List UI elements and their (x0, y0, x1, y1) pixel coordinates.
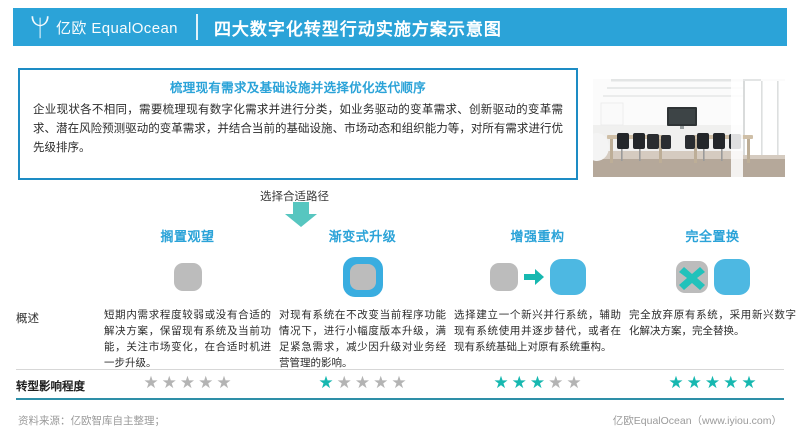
gray-rounded-square-icon (174, 263, 202, 291)
rating-stars-1: ★★★★★ (100, 374, 275, 391)
row-label-overview: 概述 (16, 310, 39, 326)
star-filled-icon: ★ (723, 374, 738, 391)
divider-top (16, 369, 784, 370)
column-title: 增强重构 (450, 228, 625, 248)
star-empty-icon: ★ (391, 374, 406, 391)
star-filled-icon: ★ (318, 374, 333, 391)
blue-outer-rounded-square-icon (343, 257, 383, 297)
callout-body: 企业现状各不相同，需要梳理现有数字化需求并进行分类，如业务驱动的变革需求、创新驱… (33, 101, 563, 158)
column-title: 完全置换 (625, 228, 800, 248)
header-bar: 亿欧 EqualOcean 四大数字化转型行动实施方案示意图 (13, 8, 787, 46)
star-filled-icon: ★ (512, 374, 527, 391)
star-empty-icon: ★ (355, 374, 370, 391)
equalocean-tree-logo-icon (29, 14, 51, 40)
column-description: 对现有系统在不改变当前程序功能情况下，进行小幅度版本升级，满足紧急需求，减少因升… (275, 307, 450, 371)
column-description: 短期内需求程度较弱或没有合适的解决方案，保留现有系统及当前功能，关注市场变化，在… (100, 307, 275, 371)
column-description: 完全放弃原有系统，采用新兴数字化解决方案，完全替换。 (625, 307, 800, 339)
blue-rounded-square-icon (714, 259, 750, 295)
strategy-column-4: 完全置换 完全放弃原有系统，采用新兴数字化解决方案，完全替换。 (625, 228, 800, 339)
column-icon-group (450, 251, 625, 303)
column-description: 选择建立一个新兴并行系统，辅助现有系统使用并逐步替代，或者在现有系统基础上对原有… (450, 307, 625, 355)
arrow-down-icon (283, 202, 319, 228)
impact-rating-row: ★★★★★ ★★★★★ ★★★★★ ★★★★★ (100, 374, 800, 396)
star-filled-icon: ★ (530, 374, 545, 391)
star-empty-icon: ★ (143, 374, 158, 391)
star-empty-icon: ★ (198, 374, 213, 391)
strategy-columns: 搁置观望 短期内需求程度较弱或没有合适的解决方案，保留现有系统及当前功能，关注市… (100, 228, 800, 378)
divider-bottom (16, 398, 784, 400)
column-icon-group (625, 251, 800, 303)
overview-callout-box: 梳理现有需求及基础设施并选择优化迭代顺序 企业现状各不相同，需要梳理现有数字化需… (18, 68, 578, 180)
rating-stars-3: ★★★★★ (450, 374, 625, 391)
header-divider (196, 14, 198, 40)
star-empty-icon: ★ (548, 374, 563, 391)
row-label-impact: 转型影响程度 (16, 378, 85, 394)
star-empty-icon: ★ (162, 374, 177, 391)
star-filled-icon: ★ (493, 374, 508, 391)
gray-square-with-teal-x-icon (676, 261, 708, 293)
brand-logo: 亿欧 EqualOcean (13, 14, 178, 40)
star-empty-icon: ★ (566, 374, 581, 391)
slide-canvas: 亿欧 EqualOcean 四大数字化转型行动实施方案示意图 梳理现有需求及基础… (0, 0, 800, 440)
callout-title: 梳理现有需求及基础设施并选择优化迭代顺序 (20, 77, 576, 96)
rating-stars-4: ★★★★★ (625, 374, 800, 391)
star-filled-icon: ★ (705, 374, 720, 391)
strategy-column-1: 搁置观望 短期内需求程度较弱或没有合适的解决方案，保留现有系统及当前功能，关注市… (100, 228, 275, 371)
footer-source: 资料来源：亿欧智库自主整理； (18, 413, 165, 428)
brand-logo-text: 亿欧 EqualOcean (56, 17, 178, 38)
column-title: 搁置观望 (100, 228, 275, 248)
star-filled-icon: ★ (687, 374, 702, 391)
arrow-right-icon (524, 268, 544, 286)
star-empty-icon: ★ (180, 374, 195, 391)
star-empty-icon: ★ (216, 374, 231, 391)
column-icon-group (275, 251, 450, 303)
page-title: 四大数字化转型行动实施方案示意图 (214, 15, 502, 40)
gray-inner-rounded-square-icon (350, 264, 376, 290)
column-icon-group (100, 251, 275, 303)
meeting-room-photo (593, 73, 785, 183)
star-empty-icon: ★ (373, 374, 388, 391)
star-filled-icon: ★ (741, 374, 756, 391)
strategy-column-3: 增强重构 选择建立一个新兴并行系统，辅助现有系统使用并逐步替代，或者在现有系统基… (450, 228, 625, 355)
column-title: 渐变式升级 (275, 228, 450, 248)
rating-stars-2: ★★★★★ (275, 374, 450, 391)
strategy-column-2: 渐变式升级 对现有系统在不改变当前程序功能情况下，进行小幅度版本升级，满足紧急需… (275, 228, 450, 371)
star-filled-icon: ★ (668, 374, 683, 391)
blue-rounded-square-icon (550, 259, 586, 295)
footer-brand: 亿欧EqualOcean（www.iyiou.com） (613, 413, 782, 428)
gray-rounded-square-icon (490, 263, 518, 291)
star-empty-icon: ★ (337, 374, 352, 391)
